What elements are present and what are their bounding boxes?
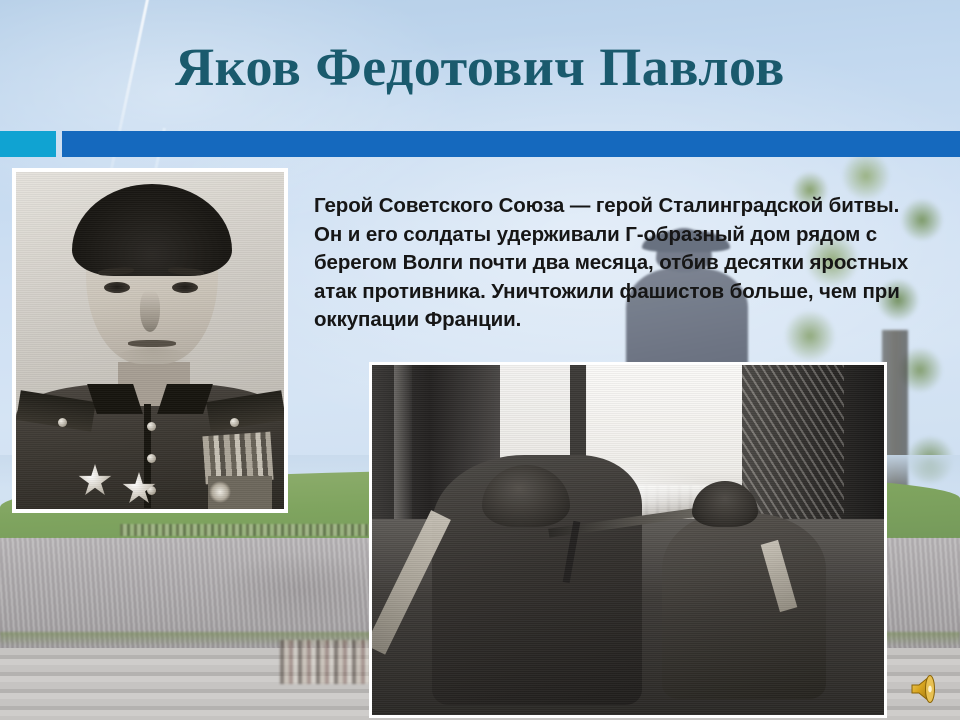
portrait-mouth	[128, 340, 176, 347]
portrait-eye-left	[104, 282, 130, 293]
portrait-nose	[140, 290, 160, 332]
portrait-collar-left	[87, 384, 143, 414]
portrait-button	[147, 422, 156, 431]
presentation-slide: Яков Федотович Павлов	[0, 0, 960, 720]
battle-photo-frame	[369, 362, 887, 718]
divider-accent-block	[0, 131, 56, 157]
battle-soldier-right	[662, 513, 826, 699]
speaker-icon[interactable]	[908, 672, 946, 706]
portrait-medals	[208, 476, 272, 509]
portrait-eye-right	[172, 282, 198, 293]
slide-title: Яков Федотович Павлов	[0, 36, 960, 98]
portrait-collar-right	[157, 384, 213, 414]
portrait-chin	[112, 348, 194, 372]
battle-window-mullion	[570, 365, 586, 469]
divider-main-block	[62, 131, 960, 157]
slide-body-text: Герой Советского Союза — герой Сталингра…	[314, 192, 914, 335]
portrait-photo	[16, 172, 284, 509]
battle-photo	[372, 365, 884, 715]
speaker-icon-glyph	[908, 672, 946, 706]
portrait-photo-frame	[12, 168, 288, 513]
portrait-button	[58, 418, 67, 427]
portrait-button	[230, 418, 239, 427]
portrait-button	[147, 454, 156, 463]
header-divider-bar	[0, 131, 960, 157]
